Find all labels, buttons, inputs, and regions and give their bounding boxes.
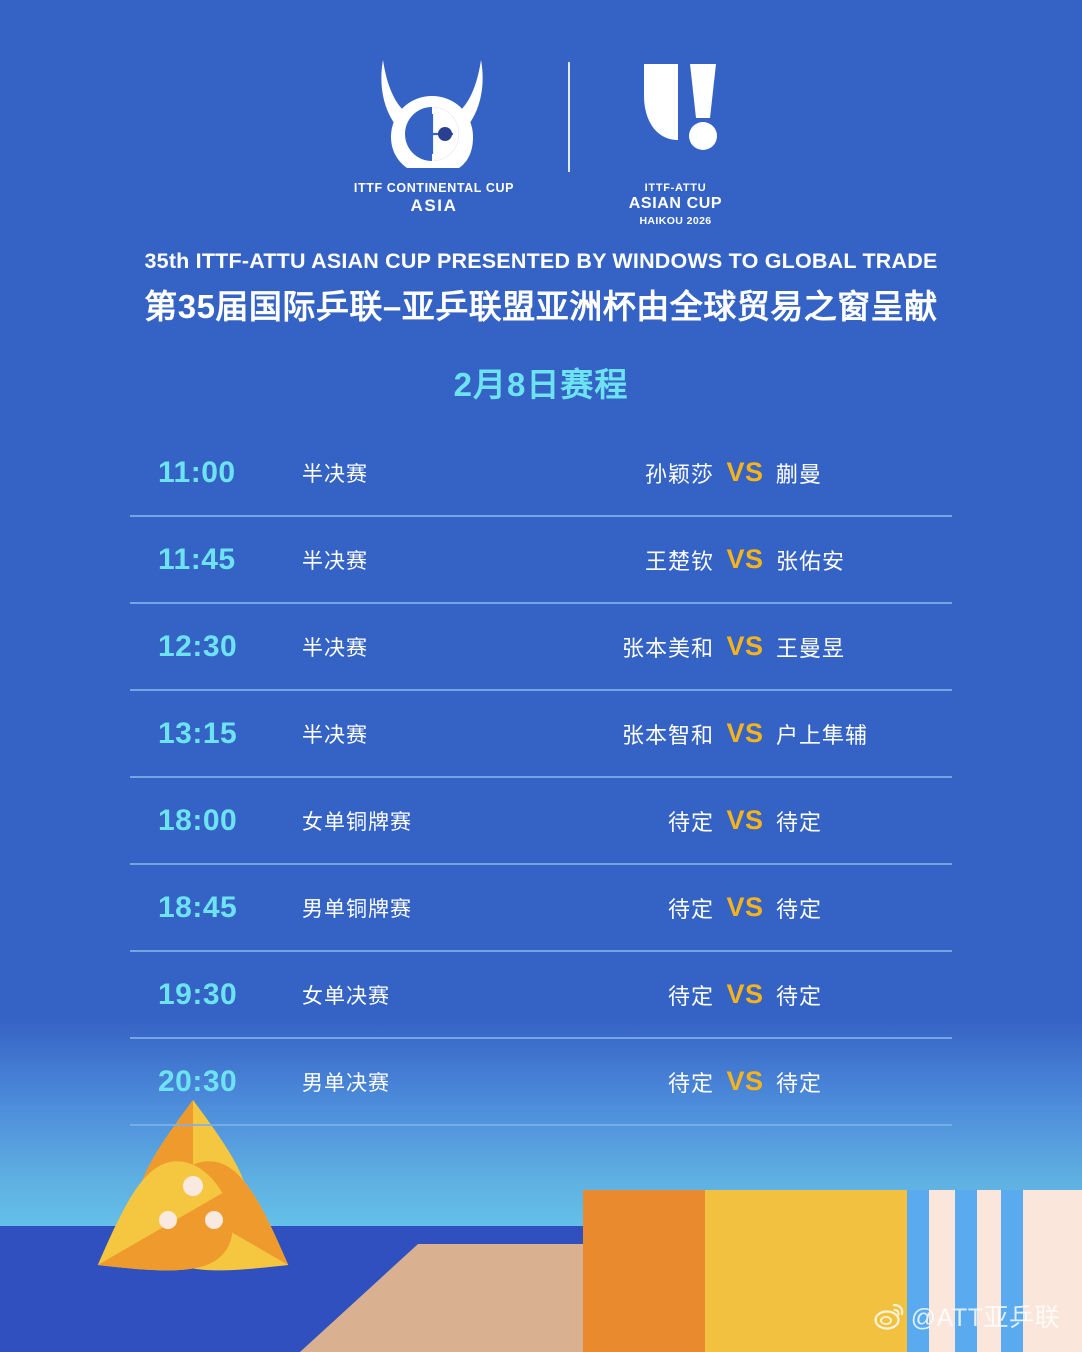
logo-right-line3: HAIKOU 2026 [616,215,736,227]
match-time: 18:00 [130,804,302,838]
logo-left-line2: ASIA [347,196,522,216]
logo-right-line1: ITTF-ATTU [616,182,736,194]
orange-block [583,1190,705,1352]
vs-label: VS [714,457,776,488]
watermark: @ATT亚乒联 [874,1298,1060,1334]
poster-content: ITTF CONTINENTAL CUP ASIA ITTF-ATTU ASIA… [0,0,1082,1126]
player-right: 待定 [776,892,952,924]
player-left: 待定 [530,805,714,837]
match-pairing: 张本智和VS户上隼辅 [530,718,952,750]
match-stage: 半决赛 [302,545,530,575]
table-row[interactable]: 12:30半决赛张本美和VS王曼昱 [130,604,952,689]
vs-label: VS [714,631,776,662]
player-right: 王曼昱 [776,631,952,663]
vs-label: VS [714,544,776,575]
match-pairing: 张本美和VS王曼昱 [530,631,952,663]
vs-label: VS [714,979,776,1010]
match-time: 11:45 [130,543,302,577]
match-pairing: 王楚钦VS张佑安 [530,544,952,576]
match-time: 18:45 [130,891,302,925]
date-title: 2月8日赛程 [0,358,1082,406]
player-right: 待定 [776,979,952,1011]
table-row[interactable]: 13:15半决赛张本智和VS户上隼辅 [130,691,952,776]
match-pairing: 待定VS待定 [530,892,952,924]
player-right: 蒯曼 [776,457,952,489]
ittf-continental-cup-logo-text: ITTF CONTINENTAL CUP ASIA [347,181,522,216]
table-row[interactable]: 11:00半决赛孙颖莎VS蒯曼 [130,430,952,515]
asian-cup-haikou-logo-text: ITTF-ATTU ASIAN CUP HAIKOU 2026 [616,182,736,227]
logo-separator [568,62,570,172]
table-row[interactable]: 20:30男单决赛待定VS待定 [130,1039,952,1124]
player-left: 孙颖莎 [530,457,714,489]
ittf-continental-cup-logo: ITTF CONTINENTAL CUP ASIA [347,52,522,216]
match-pairing: 孙颖莎VS蒯曼 [530,457,952,489]
table-row[interactable]: 19:30女单决赛待定VS待定 [130,952,952,1037]
watermark-handle: @ATT亚乒联 [911,1298,1060,1334]
ittf-continental-cup-crescent-icon [347,52,517,172]
match-time: 12:30 [130,630,302,664]
match-time: 19:30 [130,978,302,1012]
player-left: 待定 [530,892,714,924]
match-time: 20:30 [130,1065,302,1099]
player-right: 待定 [776,1066,952,1098]
player-right: 张佑安 [776,544,952,576]
table-row[interactable]: 11:45半决赛王楚钦VS张佑安 [130,517,952,602]
match-time: 13:15 [130,717,302,751]
match-pairing: 待定VS待定 [530,1066,952,1098]
logo-row: ITTF CONTINENTAL CUP ASIA ITTF-ATTU ASIA… [0,0,1082,227]
schedule-table: 11:00半决赛孙颖莎VS蒯曼11:45半决赛王楚钦VS张佑安12:30半决赛张… [130,430,952,1126]
table-row[interactable]: 18:00女单铜牌赛待定VS待定 [130,778,952,863]
player-left: 张本美和 [530,631,714,663]
row-divider [130,1124,952,1126]
vs-label: VS [714,1066,776,1097]
vs-label: VS [714,892,776,923]
player-left: 张本智和 [530,718,714,750]
headline-chinese: 第35届国际乒联–亚乒联盟亚洲杯由全球贸易之窗呈献 [0,280,1082,328]
player-left: 待定 [530,1066,714,1098]
match-stage: 男单铜牌赛 [302,893,530,923]
match-pairing: 待定VS待定 [530,979,952,1011]
match-stage: 女单决赛 [302,980,530,1010]
player-right: 户上隼辅 [776,718,952,750]
match-stage: 半决赛 [302,458,530,488]
three-petal-flower-icon [72,1098,314,1308]
player-left: 王楚钦 [530,544,714,576]
table-row[interactable]: 18:45男单铜牌赛待定VS待定 [130,865,952,950]
match-stage: 女单铜牌赛 [302,806,530,836]
vs-label: VS [714,718,776,749]
player-left: 待定 [530,979,714,1011]
match-stage: 半决赛 [302,632,530,662]
match-stage: 男单决赛 [302,1067,530,1097]
logo-left-line1: ITTF CONTINENTAL CUP [347,181,522,195]
match-time: 11:00 [130,456,302,490]
weibo-icon [874,1301,904,1331]
vs-label: VS [714,805,776,836]
logo-right-line2: ASIAN CUP [616,195,736,213]
player-right: 待定 [776,805,952,837]
headline-english: 35th ITTF-ATTU ASIAN CUP PRESENTED BY WI… [0,249,1082,274]
asian-cup-haikou-logo: ITTF-ATTU ASIAN CUP HAIKOU 2026 [616,52,736,227]
match-stage: 半决赛 [302,719,530,749]
match-pairing: 待定VS待定 [530,805,952,837]
asian-cup-haikou-mark-icon [616,52,736,172]
